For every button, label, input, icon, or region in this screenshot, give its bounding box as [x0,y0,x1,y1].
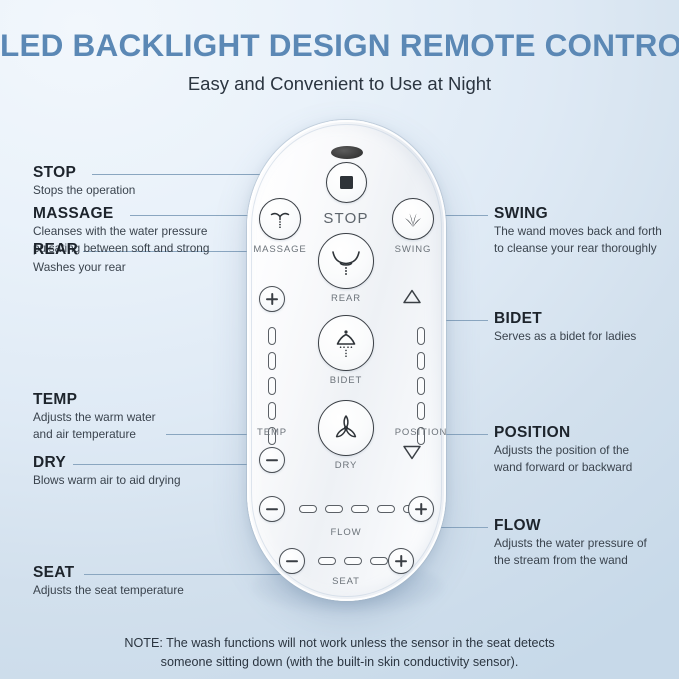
temp-decrease-button[interactable] [259,447,285,473]
callout-desc-line: Cleanses with the water pressure [33,223,209,240]
callout-temp: TEMP Adjusts the warm water and air temp… [33,391,156,442]
callout-title: REAR [33,241,126,259]
poster-canvas: LED BACKLIGHT DESIGN REMOTE CONTROL Easy… [0,0,679,679]
stop-button-label: STOP [323,210,368,227]
callout-desc-line: Stops the operation [33,182,135,199]
callout-flow: FLOW Adjusts the water pressure of the s… [494,517,647,568]
callout-desc-line: to cleanse your rear thoroughly [494,240,662,257]
callout-desc-line: Washes your rear [33,259,126,276]
seat-segment [318,557,336,565]
stop-button[interactable] [326,162,367,203]
temp-increase-button[interactable] [259,286,285,312]
callout-seat: SEAT Adjusts the seat temperature [33,564,184,599]
rear-icon [327,242,365,280]
callout-position: POSITION Adjusts the position of the wan… [494,424,632,475]
callout-dry: DRY Blows warm air to aid drying [33,454,181,489]
callout-desc-line: Adjusts the water pressure of [494,535,647,552]
flow-level-indicator [299,505,421,513]
callout-title: BIDET [494,310,636,328]
callout-desc-line: and air temperature [33,426,156,443]
dry-button-label: DRY [335,460,358,471]
callout-title: TEMP [33,391,156,409]
temp-label: TEMP [257,427,287,438]
flow-label: FLOW [330,527,361,538]
callout-desc-line: Adjusts the position of the [494,442,632,459]
stop-square-icon [340,176,353,189]
massage-icon [267,206,293,232]
callout-desc-line: Blows warm air to aid drying [33,472,181,489]
callout-stop: STOP Stops the operation [33,164,135,199]
massage-button-label: MASSAGE [253,244,306,255]
rear-button[interactable] [318,233,374,289]
callout-desc-line: Serves as a bidet for ladies [494,328,636,345]
position-segment [417,327,425,345]
flow-segment [377,505,395,513]
bidet-button-label: BIDET [330,375,362,386]
flow-segment [299,505,317,513]
position-segment [417,402,425,420]
ir-emitter-window [331,146,363,159]
temp-segment [268,402,276,420]
triangle-up-icon [402,288,422,305]
rear-button-label: REAR [331,293,361,304]
bidet-icon [327,324,365,362]
temp-segment [268,377,276,395]
callout-title: DRY [33,454,181,472]
callout-desc-line: wand forward or backward [494,459,632,476]
seat-segment [370,557,388,565]
swing-button-label: SWING [395,244,432,255]
callout-rear: REAR Washes your rear [33,241,126,276]
callout-title: MASSAGE [33,205,209,223]
swing-button[interactable] [392,198,434,240]
seat-segment [344,557,362,565]
dry-button[interactable] [318,400,374,456]
flow-segment [325,505,343,513]
bidet-button[interactable] [318,315,374,371]
temp-segment [268,352,276,370]
seat-level-indicator [318,557,388,565]
callout-title: SEAT [33,564,184,582]
position-segment [417,377,425,395]
callout-title: POSITION [494,424,632,442]
footer-note-line: someone sitting down (with the built-in … [0,653,679,672]
page-title: LED BACKLIGHT DESIGN REMOTE CONTROL [0,27,679,64]
position-label: POSITION [395,427,448,438]
seat-increase-button[interactable] [388,548,414,574]
seat-label: SEAT [332,576,360,587]
callout-bidet: BIDET Serves as a bidet for ladies [494,310,636,345]
temp-segment [268,327,276,345]
remote-control-body: STOP MASSAGE SWING [247,120,446,601]
fan-icon [326,408,366,448]
callout-desc-line: The wand moves back and forth [494,223,662,240]
callout-title: STOP [33,164,135,182]
massage-button[interactable] [259,198,301,240]
callout-swing: SWING The wand moves back and forth to c… [494,205,662,256]
callout-title: SWING [494,205,662,223]
seat-decrease-button[interactable] [279,548,305,574]
callout-desc-line: the stream from the wand [494,552,647,569]
position-segment [417,352,425,370]
callout-desc-line: Adjusts the seat temperature [33,582,184,599]
flow-increase-button[interactable] [408,496,434,522]
footer-note-line: NOTE: The wash functions will not work u… [0,634,679,653]
flow-segment [351,505,369,513]
callout-title: FLOW [494,517,647,535]
triangle-down-icon [402,444,422,461]
callout-desc-line: Adjusts the warm water [33,409,156,426]
flow-decrease-button[interactable] [259,496,285,522]
page-subtitle: Easy and Convenient to Use at Night [0,73,679,95]
swing-icon [400,206,426,232]
footer-note: NOTE: The wash functions will not work u… [0,634,679,671]
